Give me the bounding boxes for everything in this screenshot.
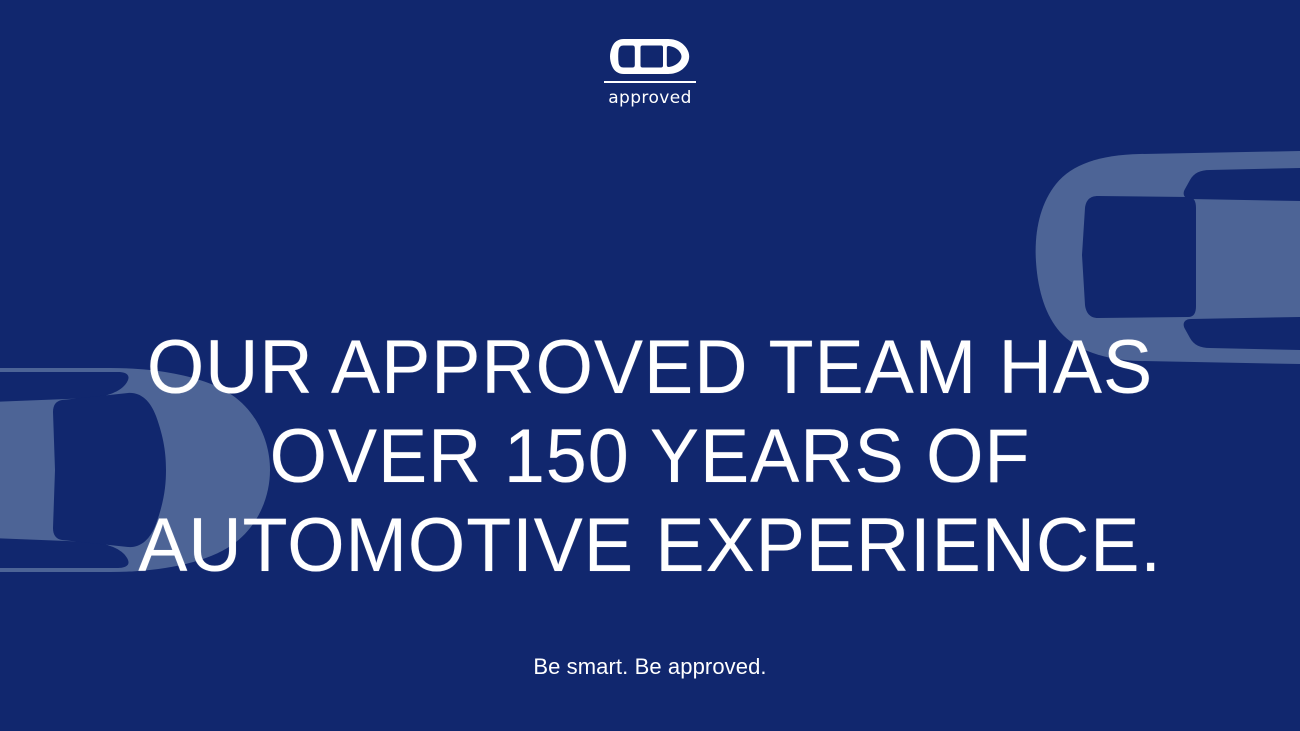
page-title: OUR APPROVED TEAM HAS OVER 150 YEARS OF … (20, 323, 1281, 590)
slide-canvas: approved OUR APPROVED TEAM HAS OVER 150 … (0, 0, 1300, 731)
tagline: Be smart. Be approved. (0, 656, 1300, 678)
logo-wordmark: approved (608, 90, 692, 107)
logo-divider (604, 81, 696, 83)
brand-logo: approved (598, 38, 702, 107)
car-top-view-icon (610, 38, 690, 75)
